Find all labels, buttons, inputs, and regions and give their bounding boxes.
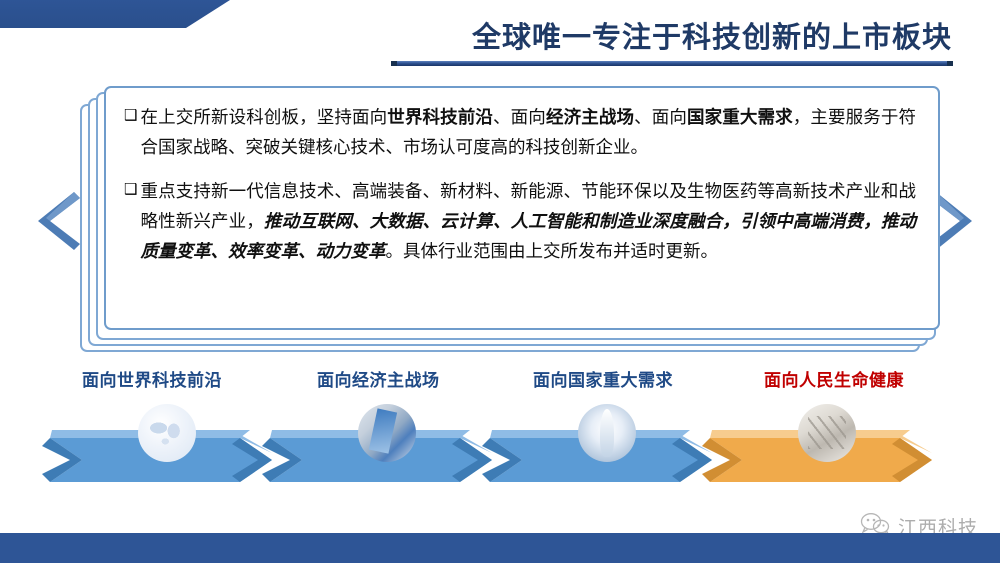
pillar-label-3: 面向人民生命健康 [764,366,904,391]
bullet-marker-icon: ❑ [124,176,137,204]
paragraph-1: 在上交所新设科创板，坚持面向世界科技前沿、面向经济主战场、面向国家重大需求，主要… [140,102,916,162]
laboratory-photo [358,404,416,462]
pillar-label-row: 面向世界科技前沿 面向经济主战场 面向国家重大需求 面向人民生命健康 [0,366,1000,394]
bullet-item: ❑ 重点支持新一代信息技术、高端装备、新材料、新能源、节能环保以及生物医药等高新… [124,176,916,266]
corner-banner-decoration [0,0,230,28]
pillar-arrow-3 [702,408,952,496]
medical-photo [798,404,856,462]
content-card-stack: ❑ 在上交所新设科创板，坚持面向世界科技前沿、面向经济主战场、面向国家重大需求，… [80,86,920,348]
bullet-marker-icon: ❑ [124,102,137,130]
rocket-photo [578,404,636,462]
pillar-label-1: 面向经济主战场 [317,366,440,391]
bullet-item: ❑ 在上交所新设科创板，坚持面向世界科技前沿、面向经济主战场、面向国家重大需求，… [124,102,916,162]
content-card: ❑ 在上交所新设科创板，坚持面向世界科技前沿、面向经济主战场、面向国家重大需求，… [104,86,940,330]
pillar-arrow-1 [262,408,512,496]
pillar-arrow-0 [42,408,292,496]
paragraph-2: 重点支持新一代信息技术、高端装备、新材料、新能源、节能环保以及生物医药等高新技术… [140,176,916,266]
pillar-label-2: 面向国家重大需求 [533,366,673,391]
pillar-arrow-row [0,408,1000,498]
pillar-arrow-2 [482,408,732,496]
left-chevron-icon [34,188,80,254]
page-title: 全球唯一专注于科技创新的上市板块 [400,18,960,58]
slide-canvas: 全球唯一专注于科技创新的上市板块 ❑ 在上交所新设科创板，坚持面向世界科技前沿、… [0,0,1000,563]
footer-bar [0,533,1000,563]
pillar-label-0: 面向世界科技前沿 [82,366,222,391]
globe-photo [138,404,196,462]
title-underline-rule [391,61,953,66]
